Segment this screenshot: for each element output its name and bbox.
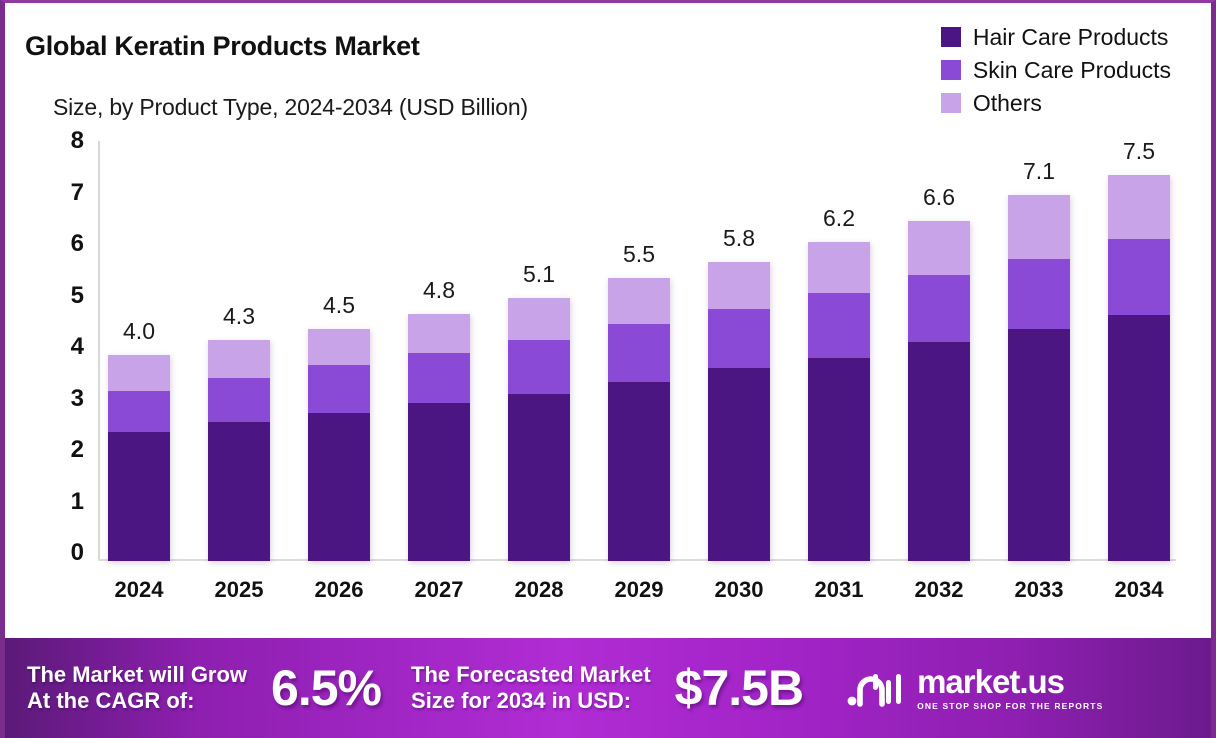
plot-area: 876543210 4.04.34.54.85.15.55.86.26.67.1… <box>98 141 1176 569</box>
bar-stack[interactable] <box>108 355 170 561</box>
legend-item-label: Hair Care Products <box>973 24 1169 51</box>
chart-legend: Hair Care ProductsSkin Care ProductsOthe… <box>941 23 1171 117</box>
bar-segment-others[interactable] <box>108 355 170 391</box>
bar-group[interactable]: 7.1 <box>1008 149 1070 561</box>
logo-name: market.us <box>917 665 1103 698</box>
bar-segment-hair-care-products[interactable] <box>1108 315 1170 561</box>
bar-stack[interactable] <box>708 262 770 561</box>
bar-value-label: 6.2 <box>823 205 855 232</box>
square-swatch-icon <box>941 93 961 113</box>
legend-item-label: Skin Care Products <box>973 57 1171 84</box>
bar-series-container: 4.04.34.54.85.15.55.86.26.67.17.5 <box>108 149 1170 561</box>
bar-segment-hair-care-products[interactable] <box>408 403 470 561</box>
x-axis-label: 2026 <box>308 577 370 603</box>
x-axis-label: 2027 <box>408 577 470 603</box>
x-axis-labels: 2024202520262027202820292030203120322033… <box>108 577 1170 603</box>
bar-group[interactable]: 5.1 <box>508 149 570 561</box>
cagr-label-line1: The Market will Grow <box>27 662 247 688</box>
bar-segment-hair-care-products[interactable] <box>1008 329 1070 561</box>
bar-segment-hair-care-products[interactable] <box>508 394 570 561</box>
bar-stack[interactable] <box>408 314 470 561</box>
y-axis-tick-label: 4 <box>54 333 84 361</box>
bar-value-label: 7.5 <box>1123 138 1155 165</box>
bar-segment-skin-care-products[interactable] <box>708 309 770 368</box>
bar-segment-others[interactable] <box>208 340 270 379</box>
x-axis-label: 2024 <box>108 577 170 603</box>
x-axis-label: 2033 <box>1008 577 1070 603</box>
bar-segment-others[interactable] <box>1008 195 1070 258</box>
forecast-label-line1: The Forecasted Market <box>411 662 651 688</box>
bar-segment-skin-care-products[interactable] <box>208 378 270 422</box>
bar-group[interactable]: 4.5 <box>308 149 370 561</box>
bar-group[interactable]: 6.6 <box>908 149 970 561</box>
bar-value-label: 5.1 <box>523 261 555 288</box>
bar-stack[interactable] <box>1108 175 1170 561</box>
y-axis-tick-label: 1 <box>54 488 84 516</box>
logo-wordmark: market.us ONE STOP SHOP FOR THE REPORTS <box>917 665 1103 711</box>
bar-stack[interactable] <box>608 278 670 561</box>
bar-segment-hair-care-products[interactable] <box>208 422 270 561</box>
bar-value-label: 6.6 <box>923 184 955 211</box>
bar-value-label: 4.0 <box>123 318 155 345</box>
bar-segment-skin-care-products[interactable] <box>608 324 670 382</box>
bar-segment-hair-care-products[interactable] <box>608 382 670 561</box>
bar-stack[interactable] <box>1008 195 1070 561</box>
summary-banner: The Market will Grow At the CAGR of: 6.5… <box>5 638 1211 738</box>
bar-value-label: 5.5 <box>623 241 655 268</box>
legend-item-label: Others <box>973 90 1042 117</box>
bar-value-label: 7.1 <box>1023 158 1055 185</box>
bar-segment-others[interactable] <box>808 242 870 293</box>
page-title: Global Keratin Products Market <box>25 31 420 62</box>
bar-stack[interactable] <box>208 340 270 561</box>
bar-group[interactable]: 4.3 <box>208 149 270 561</box>
bar-segment-skin-care-products[interactable] <box>308 365 370 413</box>
forecast-label-line2: Size for 2034 in USD: <box>411 688 651 714</box>
bar-stack[interactable] <box>808 242 870 561</box>
bar-segment-others[interactable] <box>608 278 670 324</box>
bar-segment-skin-care-products[interactable] <box>808 293 870 357</box>
x-axis-label: 2034 <box>1108 577 1170 603</box>
bar-segment-others[interactable] <box>408 314 470 353</box>
bar-value-label: 4.8 <box>423 277 455 304</box>
x-axis-label: 2029 <box>608 577 670 603</box>
cagr-label: The Market will Grow At the CAGR of: <box>27 662 247 714</box>
bar-segment-hair-care-products[interactable] <box>808 358 870 561</box>
bar-segment-others[interactable] <box>508 298 570 339</box>
legend-item[interactable]: Skin Care Products <box>941 56 1171 84</box>
market-us-logo[interactable]: market.us ONE STOP SHOP FOR THE REPORTS <box>845 665 1103 711</box>
bar-stack[interactable] <box>308 329 370 561</box>
bar-segment-hair-care-products[interactable] <box>908 342 970 561</box>
forecast-value: $7.5B <box>675 659 803 717</box>
bar-group[interactable]: 4.0 <box>108 149 170 561</box>
forecast-label: The Forecasted Market Size for 2034 in U… <box>411 662 651 714</box>
y-axis-tick-label: 2 <box>54 436 84 464</box>
y-axis-tick-label: 6 <box>54 230 84 258</box>
x-axis-label: 2025 <box>208 577 270 603</box>
cagr-label-line2: At the CAGR of: <box>27 688 247 714</box>
bar-group[interactable]: 5.8 <box>708 149 770 561</box>
cagr-block: The Market will Grow At the CAGR of: 6.5… <box>27 659 381 717</box>
forecast-block: The Forecasted Market Size for 2034 in U… <box>411 659 803 717</box>
bar-segment-hair-care-products[interactable] <box>308 413 370 561</box>
bar-segment-others[interactable] <box>1108 175 1170 239</box>
bar-segment-skin-care-products[interactable] <box>508 340 570 394</box>
x-axis-label: 2031 <box>808 577 870 603</box>
bar-segment-others[interactable] <box>708 262 770 308</box>
bar-segment-skin-care-products[interactable] <box>108 391 170 432</box>
square-swatch-icon <box>941 60 961 80</box>
x-axis-label: 2032 <box>908 577 970 603</box>
bar-segment-skin-care-products[interactable] <box>1108 239 1170 315</box>
legend-item[interactable]: Others <box>941 89 1171 117</box>
x-axis-label: 2030 <box>708 577 770 603</box>
bar-group[interactable]: 4.8 <box>408 149 470 561</box>
bar-segment-skin-care-products[interactable] <box>908 275 970 342</box>
logo-tagline: ONE STOP SHOP FOR THE REPORTS <box>917 702 1103 711</box>
bar-segment-others[interactable] <box>908 221 970 275</box>
chart-infographic: Global Keratin Products Market Size, by … <box>0 0 1216 738</box>
bar-segment-skin-care-products[interactable] <box>408 353 470 403</box>
x-axis-label: 2028 <box>508 577 570 603</box>
y-axis-tick-label: 8 <box>54 127 84 155</box>
bar-segment-skin-care-products[interactable] <box>1008 259 1070 330</box>
market-us-logo-icon <box>845 666 907 710</box>
bar-stack[interactable] <box>908 221 970 561</box>
bar-segment-hair-care-products[interactable] <box>708 368 770 561</box>
cagr-value: 6.5% <box>271 659 381 717</box>
bar-stack[interactable] <box>508 298 570 561</box>
y-axis-line <box>98 141 100 561</box>
bar-group[interactable]: 7.5 <box>1108 149 1170 561</box>
y-axis-tick-label: 7 <box>54 179 84 207</box>
legend-item[interactable]: Hair Care Products <box>941 23 1171 51</box>
y-axis-tick-label: 0 <box>54 539 84 567</box>
y-axis-tick-label: 3 <box>54 385 84 413</box>
bar-segment-hair-care-products[interactable] <box>108 432 170 561</box>
bar-value-label: 5.8 <box>723 225 755 252</box>
bar-segment-others[interactable] <box>308 329 370 365</box>
y-axis-tick-label: 5 <box>54 282 84 310</box>
square-swatch-icon <box>941 27 961 47</box>
bar-group[interactable]: 6.2 <box>808 149 870 561</box>
bar-value-label: 4.3 <box>223 303 255 330</box>
bar-group[interactable]: 5.5 <box>608 149 670 561</box>
chart-subtitle: Size, by Product Type, 2024-2034 (USD Bi… <box>53 94 528 121</box>
bar-value-label: 4.5 <box>323 292 355 319</box>
